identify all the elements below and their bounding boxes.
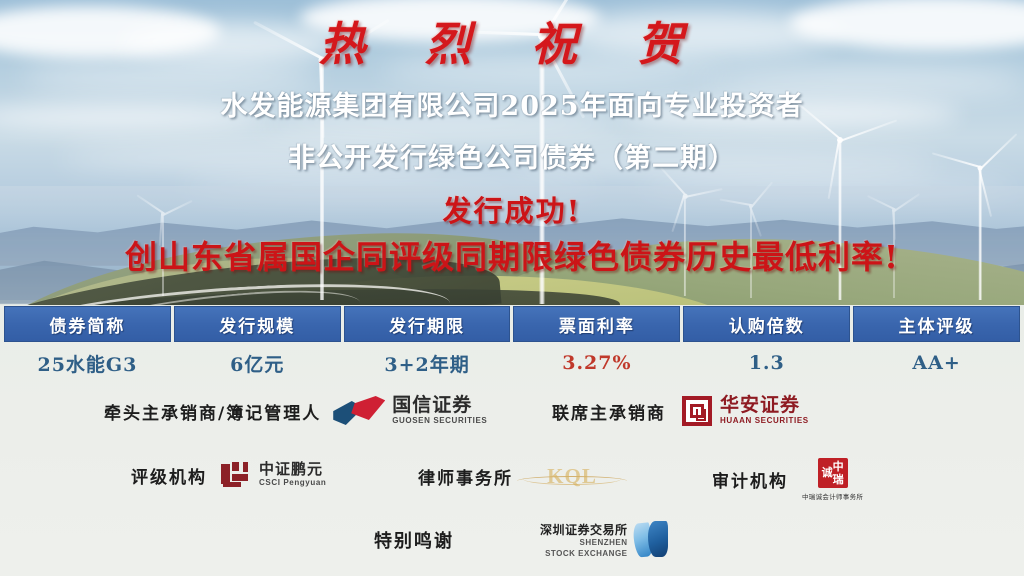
- lead-underwriter-label: 牵头主承销商/簿记管理人: [104, 399, 321, 424]
- rating-agency-group: 评级机构 中证鹏元 CSCI Pengyuan: [131, 462, 326, 488]
- table-header-cell: 认购倍数: [683, 306, 850, 342]
- auditor-group: 审计机构 中 瑞 诚 中瑞诚会计师事务所: [712, 458, 863, 501]
- issue-success-text: 发行成功!: [0, 188, 1024, 230]
- csci-mark-icon: [221, 462, 253, 488]
- table-header-cell: 票面利率: [513, 306, 680, 342]
- table-value-cell: 1.3: [683, 346, 850, 380]
- szse-name-en-1: SHENZHEN: [580, 538, 628, 548]
- szse-name-en-2: STOCK EXCHANGE: [545, 549, 627, 559]
- kql-logo-text: KQL: [547, 464, 597, 489]
- bond-table-value-row: 25水能G3 6亿元 3+2年期 3.27% 1.3 AA+: [4, 346, 1020, 380]
- csci-name-en: CSCI Pengyuan: [259, 478, 326, 488]
- csci-name-cn: 中证鹏元: [259, 462, 326, 478]
- guosen-name-en: GUOSEN SECURITIES: [392, 416, 487, 426]
- table-header-cell: 债券简称: [4, 306, 171, 342]
- huaan-name-en: HUAAN SECURITIES: [720, 416, 809, 426]
- table-value-cell-coupon-rate: 3.27%: [513, 346, 680, 380]
- headline-congratulations: 热 烈 祝 贺: [0, 8, 1024, 74]
- table-value-cell: AA+: [853, 346, 1020, 380]
- zhongruicheng-seal-icon: 中 瑞 诚: [818, 458, 848, 488]
- szse-name-cn: 深圳证券交易所: [540, 521, 628, 538]
- subtitle-line-1: 水发能源集团有限公司2025年面向专业投资者: [0, 84, 1024, 123]
- table-header-cell: 发行期限: [344, 306, 511, 342]
- special-thanks-label: 特别鸣谢: [374, 527, 454, 553]
- special-thanks-group: 特别鸣谢 深圳证券交易所 SHENZHEN STOCK EXCHANGE: [374, 521, 668, 559]
- guosen-mark-icon: [333, 396, 385, 426]
- table-header-cell: 主体评级: [853, 306, 1020, 342]
- record-rate-text: 创山东省属国企同评级同期限绿色债券历史最低利率!: [0, 232, 1024, 278]
- joint-underwriter-label: 联席主承销商: [552, 399, 666, 424]
- lead-underwriter-group: 牵头主承销商/簿记管理人 国信证券 GUOSEN SECURITIES: [104, 396, 487, 426]
- table-value-cell: 25水能G3: [4, 346, 171, 380]
- table-value-cell: 6亿元: [174, 346, 341, 380]
- kql-law-firm-logo: KQL: [517, 463, 627, 489]
- szse-mark-icon: [634, 521, 668, 559]
- auditor-label: 审计机构: [712, 467, 788, 492]
- bond-table-header-row: 债券简称 发行规模 发行期限 票面利率 认购倍数 主体评级: [4, 306, 1020, 342]
- guosen-name-cn: 国信证券: [392, 396, 487, 416]
- guosen-securities-logo: 国信证券 GUOSEN SECURITIES: [333, 396, 487, 426]
- zhongruicheng-logo: 中 瑞 诚 中瑞诚会计师事务所: [802, 458, 863, 501]
- law-firm-label: 律师事务所: [418, 464, 513, 489]
- huaan-seal-icon: [682, 396, 712, 426]
- huaan-name-cn: 华安证券: [720, 396, 809, 416]
- rating-agency-label: 评级机构: [131, 463, 207, 488]
- table-value-cell: 3+2年期: [344, 346, 511, 380]
- joint-underwriter-group: 联席主承销商 华安证券 HUAAN SECURITIES: [552, 396, 809, 426]
- huaan-securities-logo: 华安证券 HUAAN SECURITIES: [682, 396, 809, 426]
- law-firm-group: 律师事务所 KQL: [418, 463, 627, 489]
- csci-pengyuan-logo: 中证鹏元 CSCI Pengyuan: [221, 462, 326, 488]
- shenzhen-stock-exchange-logo: 深圳证券交易所 SHENZHEN STOCK EXCHANGE: [540, 521, 668, 559]
- subtitle-line-2: 非公开发行绿色公司债券（第二期）: [0, 136, 1024, 175]
- celebration-poster: 热 烈 祝 贺 水发能源集团有限公司2025年面向专业投资者 非公开发行绿色公司…: [0, 0, 1024, 576]
- auditor-caption: 中瑞诚会计师事务所: [802, 491, 863, 501]
- table-header-cell: 发行规模: [174, 306, 341, 342]
